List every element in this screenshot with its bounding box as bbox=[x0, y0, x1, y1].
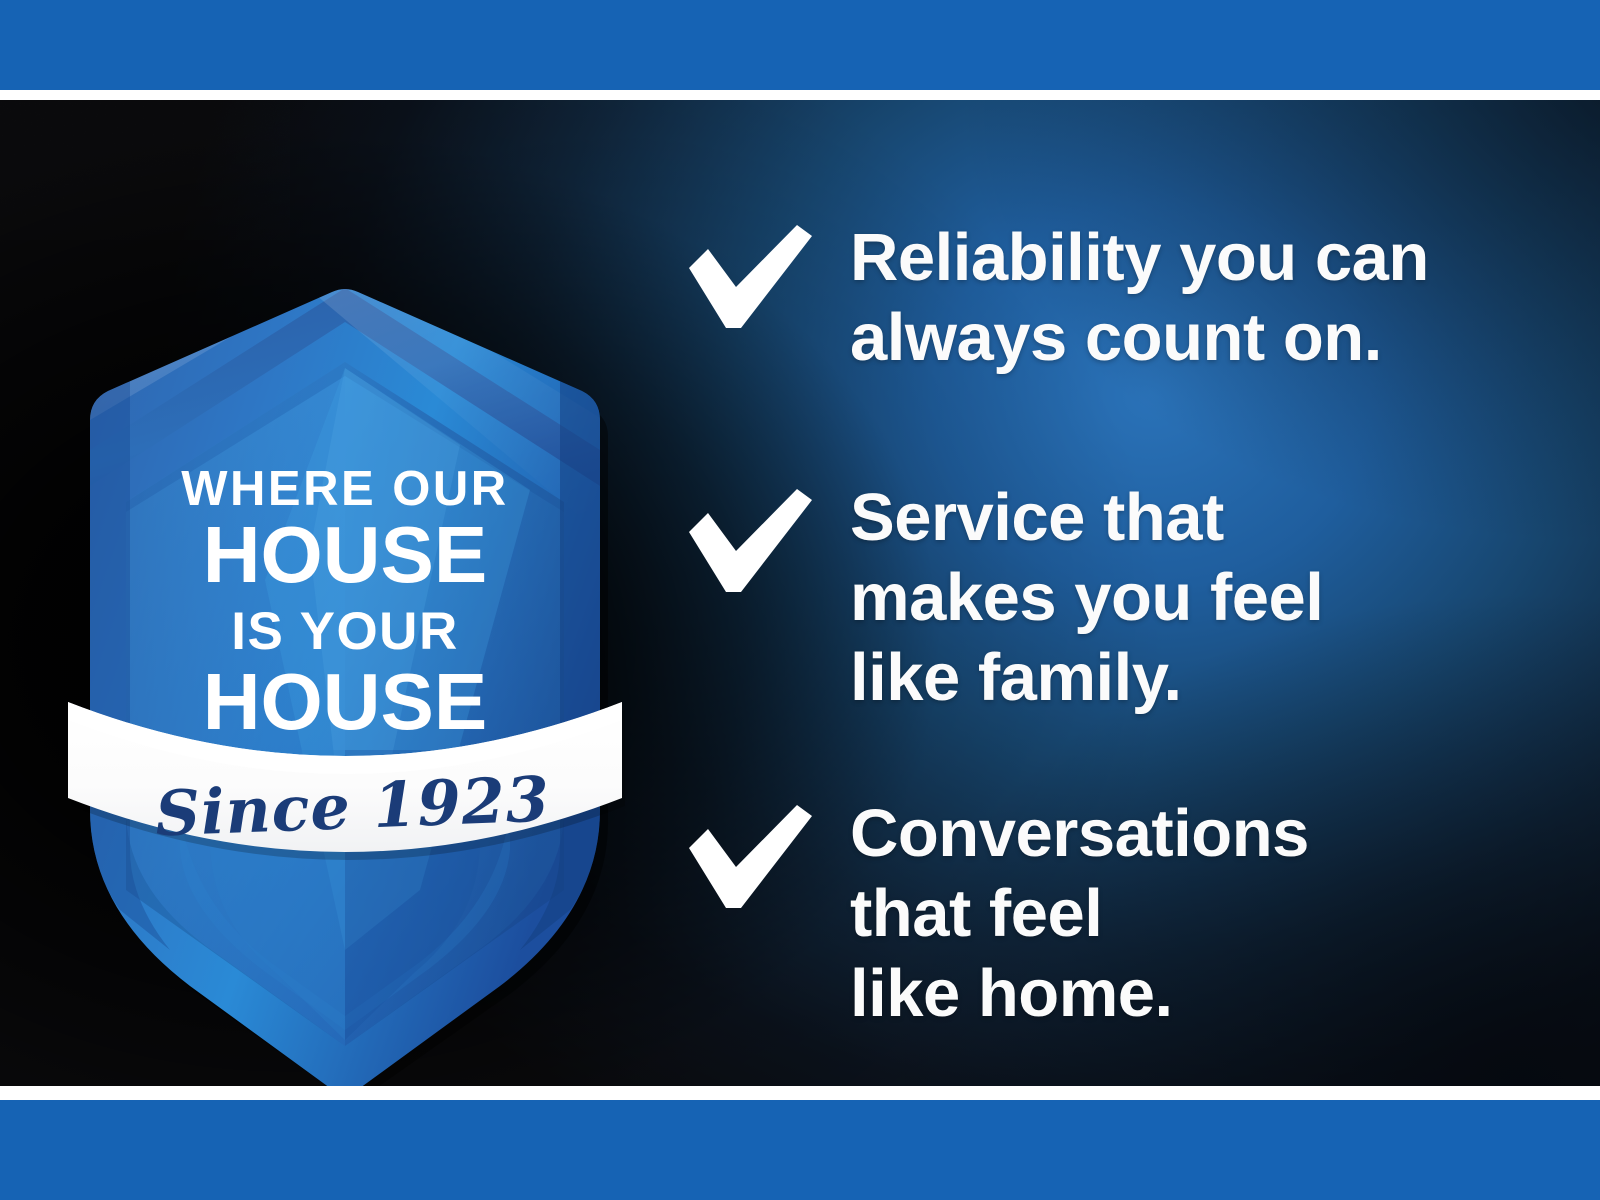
list-item-text: Conversations that feel like home. bbox=[850, 794, 1309, 1034]
list-item: Service that makes you feel like family. bbox=[686, 482, 1323, 718]
bottom-white-divider bbox=[0, 1086, 1600, 1100]
background-noise-texture bbox=[0, 100, 290, 240]
list-item: Conversations that feel like home. bbox=[686, 798, 1309, 1034]
list-item-text: Service that makes you feel like family. bbox=[850, 478, 1323, 718]
list-item: Reliability you can always count on. bbox=[686, 218, 1429, 378]
promo-graphic: Where Our House Is Your House Since 1923… bbox=[0, 0, 1600, 1200]
shield-emblem: Where Our House Is Your House Since 1923 bbox=[60, 250, 630, 1060]
check-icon bbox=[686, 488, 814, 596]
list-item-text: Reliability you can always count on. bbox=[850, 218, 1429, 378]
bottom-brand-band bbox=[0, 1100, 1600, 1200]
check-icon bbox=[686, 224, 814, 332]
main-canvas: Where Our House Is Your House Since 1923… bbox=[0, 100, 1600, 1086]
top-white-divider bbox=[0, 90, 1600, 100]
top-brand-band bbox=[0, 0, 1600, 90]
check-icon bbox=[686, 804, 814, 912]
